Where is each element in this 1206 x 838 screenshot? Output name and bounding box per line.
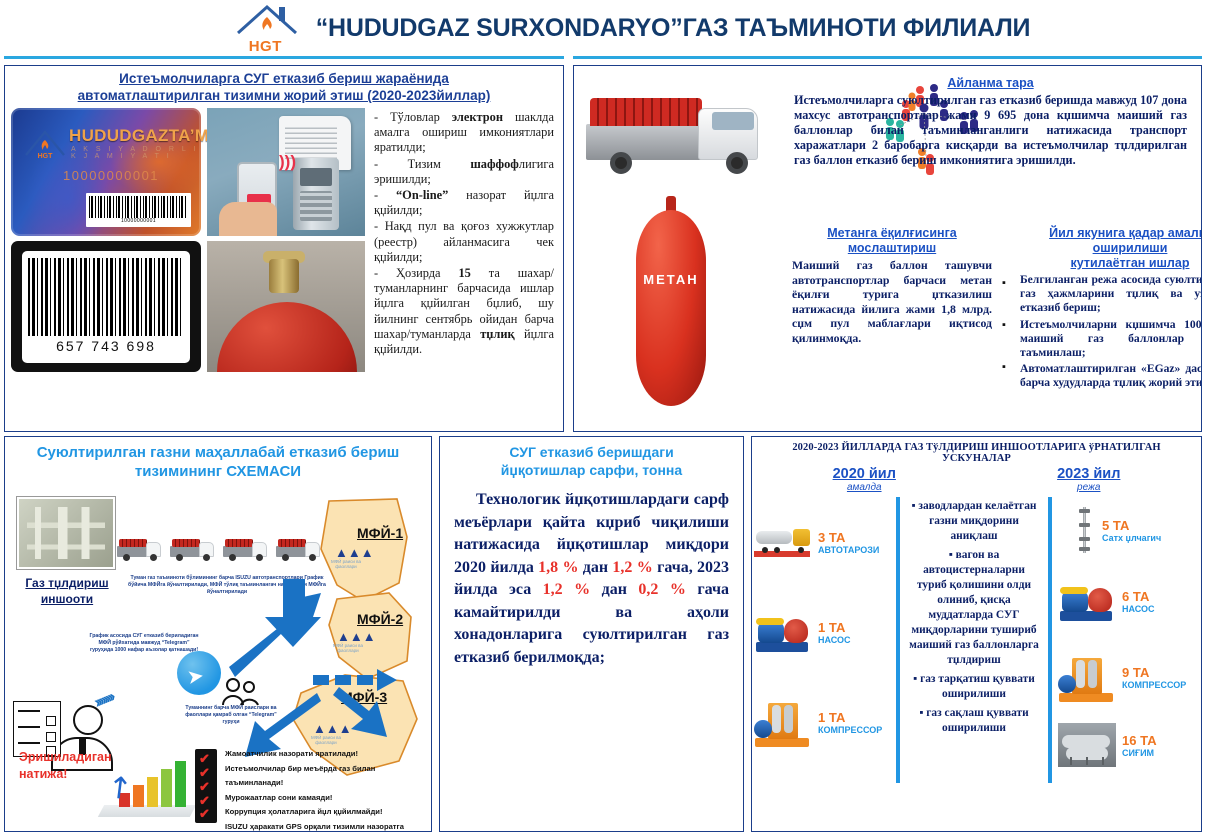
equipment-qty: 6 ТА [1122,589,1155,604]
pos-keypad [300,191,332,221]
rule-right [573,56,1202,59]
equipment-text: 16 ТА СИҒИМ [1122,733,1157,758]
bullet-2: - Тизим шаффофлигига эришилди; [374,157,554,187]
block-circulating: Айланма тара Истеъмолчиларга суюлтирилга… [780,76,1201,168]
equipment-purpose-column: ▪ заводлардан келаётган газни миқдорини … [904,497,1044,783]
result-label-line2: натижа! [19,766,112,783]
pos-screen [300,168,332,186]
truck-cylinders [590,98,702,126]
equipment-text: 6 ТА НАСОС [1122,589,1155,614]
purpose-item-3: ▪ газ тарқатиш қуввати оширилиши [904,670,1044,704]
equipment-qty: 9 ТА [1122,665,1186,680]
scheme-truck-1 [117,535,163,561]
pump-icon [754,612,812,652]
panel-automation-title-line2: автоматлаштирилган тизимни жорий этиш (2… [25,87,543,104]
equipment-item: 5 ТА Сатх џлчагич [1056,497,1196,563]
map-label-1: МФЙ-1 [357,525,403,541]
scheme-title-line1: Суюлтирилган газни маҳаллабай етказиб бе… [21,443,415,462]
users-icon [219,675,263,709]
chevron-flow-icon: ›››››››› [92,665,185,737]
scheme-title: Суюлтирилган газни маҳаллабай етказиб бе… [5,437,431,483]
panel-automation-title: Истеъмолчиларга СУГ етказиб бериш жараён… [5,66,563,106]
scheme-arrows [205,569,425,759]
hand-icon [219,202,277,236]
panel2-text: Айланма тара Истеъмолчиларга суюлтирилга… [780,66,1201,431]
results-list: Жамоатчилик назорати яратилади! Истеъмол… [225,747,425,832]
rule-left [4,56,564,59]
equipment-2023-column: 5 ТА Сатх џлчагич 6 ТА НАСОС [1056,497,1196,783]
bullet-3: - “On-line” назорат йџлга қџйилди; [374,188,554,218]
scheme-truck-3 [223,535,269,561]
equipment-qty: 1 ТА [818,710,882,725]
losses-body: Технологик йџқотишлардаги сарф меъёрлари… [440,483,743,669]
equipment-year-headers: 2020 йил амалда 2023 йил режа [752,466,1201,493]
equipment-item: 1 ТА НАСОС [752,587,892,677]
facility-label-line2: иншооти [11,591,123,607]
equipment-item: 9 ТА КОМПРЕССОР [1056,639,1196,715]
column-divider-right [1048,497,1052,783]
year-2023-sub: режа [977,482,1202,493]
equipment-name: НАСОС [1122,604,1155,614]
nfc-wave-icon: ))) [279,152,296,172]
mobile-payment-photo: ))) [207,108,365,236]
panel-equipment: 2020-2023 ЙИЛЛАРДА ГАЗ ТўЛДИРИШ ИНШООТЛА… [751,436,1202,832]
block-yearend-title-line2: кутилаётган ишлар [1016,256,1202,271]
methane-cylinder-image: МЕТАН [614,196,726,418]
equipment-name: АВТОТАРОЗИ [818,545,879,555]
gas-truck-image [584,80,764,176]
equipment-item: 6 ТА НАСОС [1056,563,1196,639]
equipment-text: 9 ТА КОМПРЕССОР [1122,665,1186,690]
bullet-5: - Ҳозирда 15 та шахар/туманларнинг барча… [374,266,554,357]
level-gauge-icon [1074,507,1096,553]
telegram-plane-glyph: ➤ [185,663,205,690]
bullet-1: - Тўловлар электрон шаклда амалга ошириш… [374,110,554,156]
equipment-item: 3 ТА АВТОТАРОЗИ [752,497,892,587]
equipment-title: 2020-2023 ЙИЛЛАРДА ГАЗ ТўЛДИРИШ ИНШООТЛА… [752,437,1201,466]
growth-chart-icon: ↗ [101,755,193,817]
card-number: 10000000001 [63,168,159,183]
block-methane: Метанга ёқилғисинга мослаштириш Маиший г… [780,226,1004,346]
result-item-5: ISUZU ҳаракати GPS орқали тизимли назора… [225,820,425,832]
card-barcode: 10000000001 [86,193,191,227]
block-yearend-item-2: Истеъмолчиларни кџшимча 1000 дона маиший… [1016,316,1202,361]
compressor-icon [754,697,812,747]
truck-wheel-front [726,152,748,174]
gas-tank-photo [207,241,365,372]
card-subtitle: A K S I Y A D O R L I K J A M I Y A T I [71,146,201,160]
purpose-item-1: ▪ заводлардан келаётган газни миқдорини … [904,497,1044,546]
customer-card-image: HGT HUDUDGAZTA’MINOT A K S I Y A D O R L… [11,108,201,236]
equipment-qty: 5 ТА [1102,518,1161,533]
barcode-photo: 657 743 698 [11,241,201,372]
storage-tank-icon [1058,723,1116,767]
logo-text: HGT [249,38,282,55]
equipment-text: 1 ТА КОМПРЕССОР [818,710,882,735]
truck-window [712,112,754,130]
truck-bed [586,124,702,160]
truck-wheel-rear [610,152,632,174]
result-item-1: Жамоатчилик назорати яратилади! [225,747,425,762]
equipment-text: 5 ТА Сатх џлчагич [1102,518,1161,543]
compressor-icon [1058,652,1116,702]
block-yearend-plans: Йил якунига қадар амалга оширилиши кутил… [1012,226,1202,391]
losses-title-line2: йџқотишлар сарфи, тонна [462,461,721,479]
year-2023: 2023 йил [977,466,1202,482]
block-yearend-title-line1: Йил якунига қадар амалга оширилиши [1016,226,1202,256]
result-item-3: Мурожаатлар сони камаяди! [225,791,425,806]
svg-text:HGT: HGT [38,153,54,158]
equipment-item: 1 ТА КОМПРЕССОР [752,677,892,767]
scheme-note-left: График асосида СУГ етказиб бериладиган М… [89,633,199,654]
equipment-name: СИҒИМ [1122,748,1157,758]
equipment-item: 16 ТА СИҒИМ [1056,715,1196,775]
result-label: Эришиладиган натижа! [19,749,112,783]
panel-circulating-containers: МЕТАН [573,65,1202,432]
result-label-line1: Эришиладиган [19,749,112,766]
year-2020-sub: амалда [752,482,977,493]
gas-filling-facility-image [17,497,115,569]
panel-automation-bullets: - Тўловлар электрон шаклда амалга ошириш… [372,108,557,377]
card-roof-icon: HGT [24,128,66,158]
block-yearend-item-3: Автоматлаштирилган «EGaz» дастурини барч… [1016,360,1202,390]
purpose-item-4: ▪ газ сақлаш қуввати оширилиши [904,704,1044,738]
facility-label-line1: Газ тџлдириш [11,575,123,591]
map-people-icon-1: ▲▲▲ [335,545,374,560]
losses-title: СУГ етказиб беришдаги йџқотишлар сарфи, … [440,437,743,483]
losses-title-line1: СУГ етказиб беришдаги [462,443,721,461]
panel-automation: Истеъмолчиларга СУГ етказиб бериш жараён… [4,65,564,432]
tank-body [217,302,357,372]
panel-losses: СУГ етказиб беришдаги йџқотишлар сарфи, … [439,436,744,832]
year-2023-header: 2023 йил режа [977,466,1202,493]
scheme-truck-2 [170,535,216,561]
equipment-name: НАСОС [818,635,851,645]
truck-scale-icon [754,525,812,559]
equipment-columns: 3 ТА АВТОТАРОЗИ 1 ТА НАСОС [752,493,1201,783]
checkmark-column: ✔✔ ✔✔ ✔ [195,749,217,823]
page-header: HGT “HUDUDGAZ SURXONDARYO”ГАЗ ТАЪМИНОТИ … [0,0,1206,56]
scheme-title-line2: тизимининг СХЕМАСИ [21,462,415,481]
panel-delivery-scheme: Суюлтирилган газни маҳаллабай етказиб бе… [4,436,432,832]
purpose-item-2: ▪ вагон ва автоцистерналарни туриб қолиш… [904,546,1044,670]
block-circulating-text: Истеъмолчиларга суюлтирилган газ етказиб… [786,91,1195,168]
block-divider-bullets: ▪▪▪ [1002,262,1006,388]
block-yearend-title: Йил якунига қадар амалга оширилиши кутил… [1016,226,1202,271]
result-item-4: Коррупция ҳолатларига йџл қџйилмайди! [225,805,425,820]
pos-terminal-icon [293,158,339,230]
column-divider-left [896,497,900,783]
equipment-name: КОМПРЕССОР [818,725,882,735]
card-barcode-number: 10000000001 [89,218,188,224]
hgt-logo: HGT [236,2,302,54]
block-methane-text: Маиший газ баллон ташувчи автотранспортл… [784,256,1000,346]
barcode-lines [28,258,184,336]
block-circulating-title: Айланма тара [786,76,1195,91]
barcode-number: 657 743 698 [28,338,184,354]
cylinder-label: МЕТАН [638,272,704,287]
map-caption-1: МФЙ раиси ва фаоллари [325,559,367,569]
year-2020: 2020 йил [752,466,977,482]
scheme-diagram: Газ тџлдириш иншооти Туман газ таъминоти… [5,483,431,823]
pump-icon [1058,581,1116,621]
block-methane-title: Метанга ёқилғисинга мослаштириш [784,226,1000,256]
panel-automation-title-line1: Истеъмолчиларга СУГ етказиб бериш жараён… [25,70,543,87]
equipment-name: КОМПРЕССОР [1122,680,1186,690]
equipment-text: 3 ТА АВТОТАРОЗИ [818,530,879,555]
equipment-text: 1 ТА НАСОС [818,620,851,645]
equipment-2020-column: 3 ТА АВТОТАРОЗИ 1 ТА НАСОС [752,497,892,783]
block-yearend-item-1: Белгиланган режа асосида суюлтирилган га… [1016,271,1202,316]
equipment-qty: 3 ТА [818,530,879,545]
bullet-4: - Нақд пул ва қоғоз хужжутлар (реестр) а… [374,219,554,265]
cylinder-body [636,210,706,406]
year-2020-header: 2020 йил амалда [752,466,977,493]
result-item-2: Истеъмолчилар бир меъёрда газ билан таъм… [225,762,425,791]
equipment-qty: 16 ТА [1122,733,1157,748]
facility-label: Газ тџлдириш иншооти [11,575,123,607]
equipment-name: Сатх џлчагич [1102,533,1161,543]
page-title: “HUDUDGAZ SURXONDARYO”ГАЗ ТАЪМИНОТИ ФИЛИ… [316,14,1031,43]
tank-valve-icon [269,259,299,293]
card-barcode-bars [89,196,188,218]
barcode-inner: 657 743 698 [22,251,190,363]
telegram-icon: ➤ [177,651,221,695]
panel2-images: МЕТАН [574,66,780,431]
equipment-qty: 1 ТА [818,620,851,635]
roof-icon [236,4,298,34]
